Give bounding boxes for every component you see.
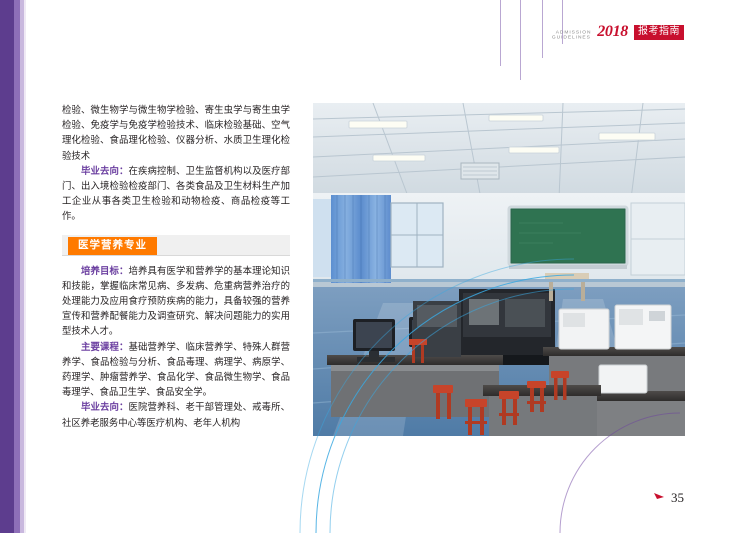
brochure-page: ADMISSION GUIDELINES 2018 报考指南 检验、微生物学与微…	[0, 0, 730, 533]
paragraph-检验课程: 检验、微生物学与微生物学检验、寄生虫学与寄生虫学检验、免疫学与免疫学检验技术、临…	[62, 103, 290, 164]
header-hairline-2	[520, 0, 521, 80]
header-tag: 报考指南	[634, 25, 684, 40]
header-hairline-3	[542, 0, 543, 58]
header-english-line-2: GUIDELINES	[552, 34, 591, 40]
paragraph-employment-2: 毕业去向：医院营养科、老干部管理处、戒毒所、社区养老服务中心等医疗机构、老年人机…	[62, 400, 290, 430]
section-heading-medical-nutrition: 医学营养专业	[62, 235, 290, 256]
header-hairline-1	[500, 0, 501, 66]
label-employment-2: 毕业去向：	[81, 402, 129, 413]
paragraph-employment-1: 毕业去向：在疾病控制、卫生监督机构以及医疗部门、出入境检验检疫部门、各类食品及卫…	[62, 164, 290, 225]
paragraph-training-goal: 培养目标：培养具有医学和营养学的基本理论知识和技能，掌握临床常见病、多发病、危重…	[62, 264, 290, 340]
page-footer: 35	[653, 490, 684, 506]
section-heading-label: 医学营养专业	[68, 237, 157, 255]
label-training-goal: 培养目标：	[81, 266, 129, 277]
page-number: 35	[671, 490, 684, 506]
left-edge-bar-quaternary	[24, 0, 26, 533]
page-header: ADMISSION GUIDELINES 2018 报考指南	[562, 24, 684, 40]
section-heading-rule	[62, 255, 290, 256]
label-employment-1: 毕业去向：	[81, 166, 129, 177]
header-year: 2018	[597, 24, 628, 40]
label-main-courses: 主要课程：	[81, 342, 129, 353]
page-marker-icon	[653, 492, 665, 504]
paragraph-main-courses: 主要课程：基础营养学、临床营养学、特殊人群营养学、食品检验与分析、食品毒理、病理…	[62, 340, 290, 401]
laboratory-classroom-photo	[313, 103, 685, 436]
main-text-column: 检验、微生物学与微生物学检验、寄生虫学与寄生虫学检验、免疫学与免疫学检验技术、临…	[62, 103, 290, 431]
header-english-caption: ADMISSION GUIDELINES	[562, 30, 591, 39]
left-edge-bar-primary	[0, 0, 14, 533]
